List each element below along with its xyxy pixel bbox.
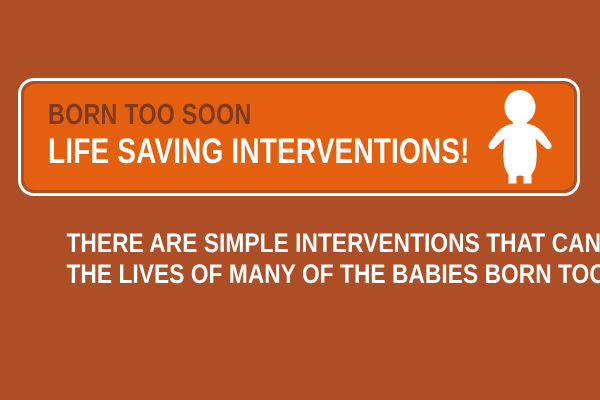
banner-headline: LIFE SAVING INTERVENTIONS!: [48, 133, 470, 171]
subcopy-line-1: THERE ARE SIMPLE INTERVENTIONS THAT CAN …: [66, 228, 533, 259]
subcopy-block: THERE ARE SIMPLE INTERVENTIONS THAT CAN …: [0, 228, 600, 290]
title-banner: BORN TOO SOON LIFE SAVING INTERVENTIONS!: [18, 78, 580, 196]
subcopy-line-2: THE LIVES OF MANY OF THE BABIES BORN TOO…: [66, 259, 533, 290]
banner-fill: BORN TOO SOON LIFE SAVING INTERVENTIONS!: [24, 84, 574, 190]
baby-icon: [488, 90, 552, 184]
banner-kicker: BORN TOO SOON: [48, 100, 470, 130]
